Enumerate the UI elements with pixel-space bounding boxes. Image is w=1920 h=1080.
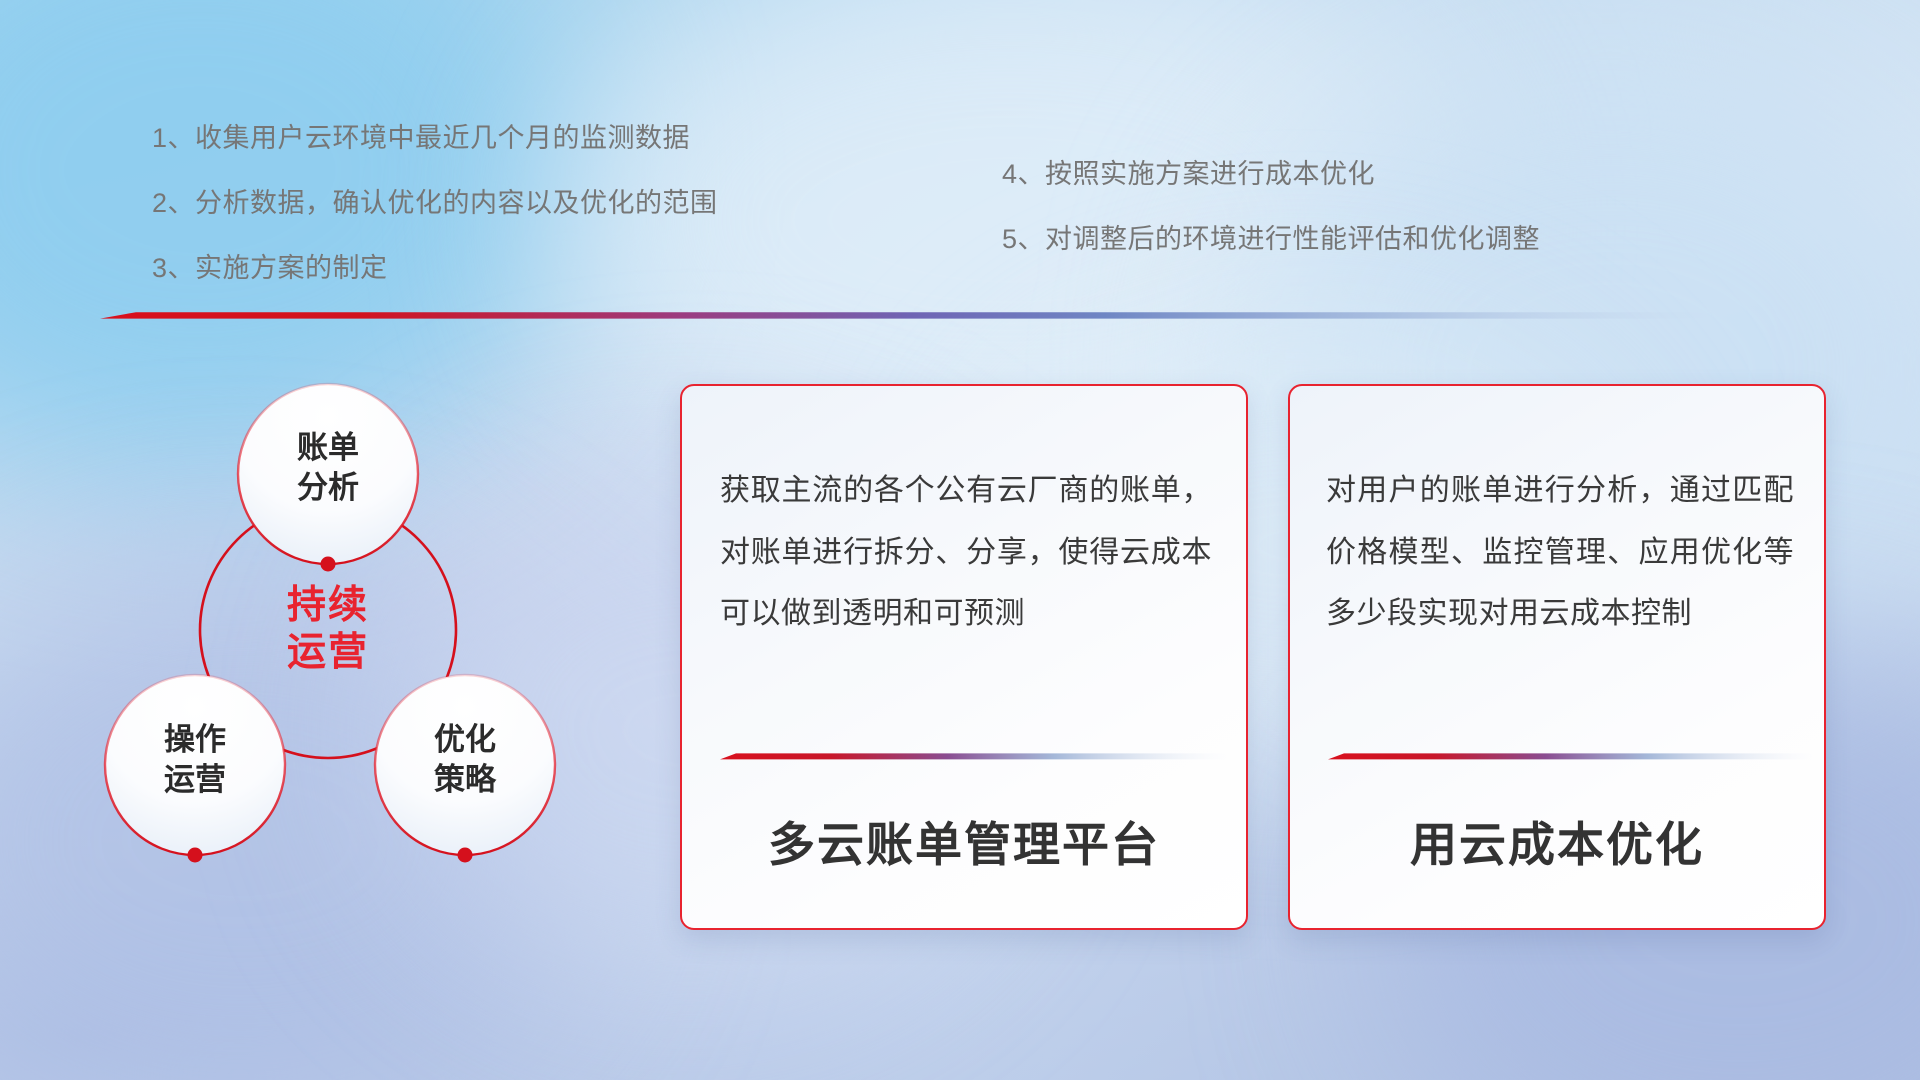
venn-node-dot <box>458 848 473 863</box>
step-text: 收集用户云环境中最近几个月的监测数据 <box>195 123 690 153</box>
step-item: 4、按照实施方案进行成本优化 <box>1002 161 1540 188</box>
step-text: 实施方案的制定 <box>195 253 388 283</box>
venn-label-strategy-line1: 优化 <box>434 722 496 757</box>
step-item: 2、分析数据，确认优化的内容以及优化的范围 <box>152 190 718 217</box>
venn-center-label-line2: 运营 <box>287 631 369 674</box>
venn-label-billing-line2: 分析 <box>297 470 359 505</box>
steps-list-right: 4、按照实施方案进行成本优化 5、对调整后的环境进行性能评估和优化调整 <box>1002 161 1540 291</box>
card-body-text: 获取主流的各个公有云厂商的账单，对账单进行拆分、分享，使得云成本可以做到透明和可… <box>720 460 1212 645</box>
venn-node-dot <box>321 557 336 572</box>
venn-diagram: 账单 分析 操作 运营 优化 策略 持续 运营 <box>95 340 655 960</box>
venn-center-label-line1: 持续 <box>287 584 369 627</box>
slide-canvas: 1、收集用户云环境中最近几个月的监测数据 2、分析数据，确认优化的内容以及优化的… <box>0 0 1920 1080</box>
step-number: 4、 <box>1002 159 1045 189</box>
card-body-text: 对用户的账单进行分析，通过匹配价格模型、监控管理、应用优化等多少段实现对用云成本… <box>1326 460 1794 645</box>
venn-node-dot <box>188 848 203 863</box>
steps-list-left: 1、收集用户云环境中最近几个月的监测数据 2、分析数据，确认优化的内容以及优化的… <box>152 125 718 320</box>
step-item: 1、收集用户云环境中最近几个月的监测数据 <box>152 125 718 152</box>
step-number: 3、 <box>152 253 195 283</box>
card-accent-rule <box>1328 752 1812 760</box>
step-text: 按照实施方案进行成本优化 <box>1045 159 1375 189</box>
step-item: 5、对调整后的环境进行性能评估和优化调整 <box>1002 226 1540 253</box>
feature-card-multi-cloud-billing-platform[interactable]: 获取主流的各个公有云厂商的账单，对账单进行拆分、分享，使得云成本可以做到透明和可… <box>680 384 1248 930</box>
step-number: 2、 <box>152 188 195 218</box>
venn-label-operation-line2: 运营 <box>164 762 226 797</box>
venn-label-strategy-line2: 策略 <box>434 762 497 797</box>
step-number: 1、 <box>152 123 195 153</box>
card-accent-rule <box>720 752 1226 760</box>
card-title: 用云成本优化 <box>1290 806 1824 875</box>
step-item: 3、实施方案的制定 <box>152 255 718 282</box>
feature-card-cloud-cost-optimization[interactable]: 对用户的账单进行分析，通过匹配价格模型、监控管理、应用优化等多少段实现对用云成本… <box>1288 384 1826 930</box>
step-text: 对调整后的环境进行性能评估和优化调整 <box>1045 224 1540 254</box>
section-divider <box>100 310 1720 319</box>
venn-label-operation-line1: 操作 <box>164 722 226 757</box>
step-number: 5、 <box>1002 224 1045 254</box>
card-title: 多云账单管理平台 <box>682 806 1246 875</box>
venn-label-billing-line1: 账单 <box>297 430 359 465</box>
step-text: 分析数据，确认优化的内容以及优化的范围 <box>195 188 718 218</box>
